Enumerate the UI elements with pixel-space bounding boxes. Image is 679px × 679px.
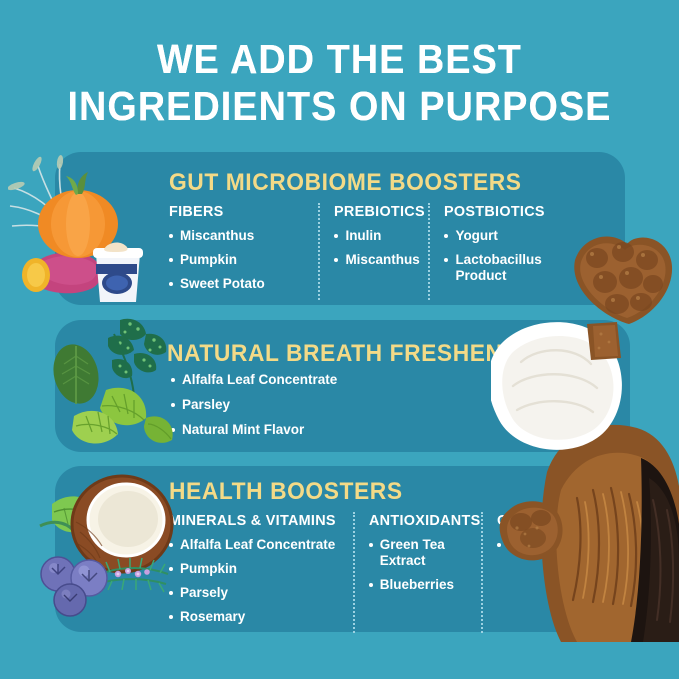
panel-health-boosters: HEALTH BOOSTERS MINERALS & VITAMINS Alfa… <box>55 466 630 632</box>
column-prebiotics: PREBIOTICS Inulin Miscanthus <box>318 203 428 300</box>
column-postbiotics-list: Yogurt Lactobacillus Product <box>444 228 569 284</box>
column-prebiotics-header: PREBIOTICS <box>334 203 424 220</box>
list-item: Rosemary <box>169 609 343 625</box>
column-fibers: FIBERS Miscanthus Pumpkin Sweet Potato <box>169 203 318 300</box>
title-line-2: INGREDIENTS ON PURPOSE <box>27 83 652 130</box>
infographic-canvas: WE ADD THE BEST INGREDIENTS ON PURPOSE G… <box>0 0 679 679</box>
list-item: Green Tea Extract <box>369 537 475 569</box>
column-postbiotics-header: POSTBIOTICS <box>444 203 564 220</box>
list-item: Miscanthus <box>334 252 428 268</box>
column-minerals-vitamins-list: Alfalfa Leaf Concentrate Pumpkin Parsely… <box>169 537 343 625</box>
column-omega-fatty-acids-list: Coconut Oil <box>497 537 641 553</box>
column-minerals-vitamins: MINERALS & VITAMINS Alfalfa Leaf Concent… <box>169 512 353 633</box>
list-item: Inulin <box>334 228 428 244</box>
panel-1-columns: FIBERS Miscanthus Pumpkin Sweet Potato P… <box>169 203 569 300</box>
list-item: Coconut Oil <box>497 537 641 553</box>
column-omega-fatty-acids-header: OMEGA FATTY ACIDS <box>497 512 635 529</box>
panel-3-heading: HEALTH BOOSTERS <box>169 478 403 506</box>
list-item: Alfalfa Leaf Concentrate <box>169 537 343 553</box>
column-fibers-list: Miscanthus Pumpkin Sweet Potato <box>169 228 308 292</box>
panel-gut-microbiome-boosters: GUT MICROBIOME BOOSTERS FIBERS Miscanthu… <box>55 152 625 305</box>
page-title: WE ADD THE BEST INGREDIENTS ON PURPOSE <box>0 36 679 130</box>
panel-2-heading: NATURAL BREATH FRESHENERS <box>167 340 551 368</box>
panel-2-list-wrap: Alfalfa Leaf Concentrate Parsley Natural… <box>171 372 337 447</box>
list-item: Yogurt <box>444 228 569 244</box>
list-item: Alfalfa Leaf Concentrate <box>171 372 337 388</box>
panel-natural-breath-fresheners: NATURAL BREATH FRESHENERS Alfalfa Leaf C… <box>55 320 630 452</box>
list-item: Parsely <box>169 585 343 601</box>
list-item: Pumpkin <box>169 561 343 577</box>
title-line-1: WE ADD THE BEST <box>27 36 652 83</box>
list-item: Parsley <box>171 397 337 413</box>
column-postbiotics: POSTBIOTICS Yogurt Lactobacillus Product <box>428 203 569 300</box>
panel-1-heading: GUT MICROBIOME BOOSTERS <box>169 169 522 197</box>
column-omega-fatty-acids: OMEGA FATTY ACIDS Coconut Oil <box>481 512 641 633</box>
column-antioxidants-list: Green Tea Extract Blueberries <box>369 537 481 593</box>
list-item: Pumpkin <box>169 252 308 268</box>
column-fibers-header: FIBERS <box>169 203 303 220</box>
column-antioxidants-header: ANTIOXIDANTS <box>369 512 477 529</box>
list-item: Lactobacillus Product <box>444 252 569 284</box>
panel-3-columns: MINERALS & VITAMINS Alfalfa Leaf Concent… <box>169 512 619 633</box>
list-item: Sweet Potato <box>169 276 308 292</box>
column-antioxidants: ANTIOXIDANTS Green Tea Extract Blueberri… <box>353 512 481 633</box>
list-item: Miscanthus <box>169 228 308 244</box>
breath-fresheners-list: Alfalfa Leaf Concentrate Parsley Natural… <box>171 372 337 438</box>
list-item: Natural Mint Flavor <box>171 422 337 438</box>
column-prebiotics-list: Inulin Miscanthus <box>334 228 428 268</box>
column-minerals-vitamins-header: MINERALS & VITAMINS <box>169 512 336 529</box>
list-item: Blueberries <box>369 577 475 593</box>
